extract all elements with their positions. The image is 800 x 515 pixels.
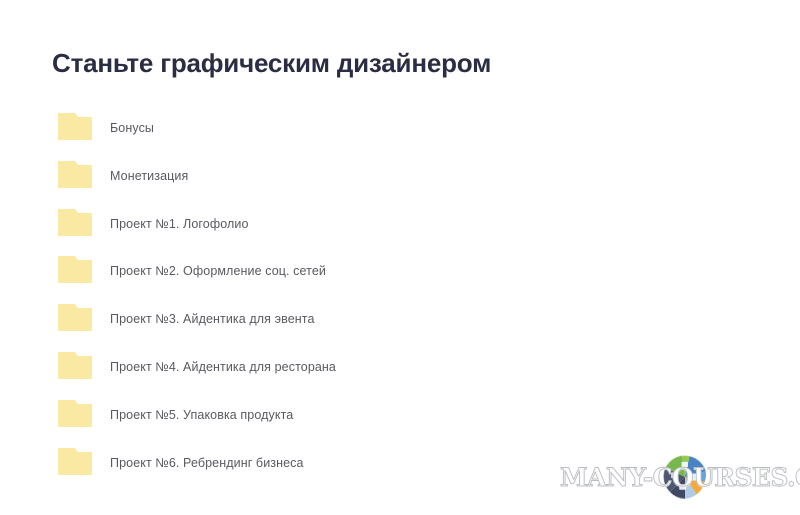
- folder-row[interactable]: Монетизация: [0, 161, 800, 209]
- folder-row[interactable]: Проект №5. Упаковка продукта: [0, 400, 800, 448]
- folder-row-label: Монетизация: [110, 168, 188, 184]
- folder-row[interactable]: Проект №1. Логофолио: [0, 209, 800, 257]
- folder-row-label: Бонусы: [110, 120, 154, 136]
- folder-icon[interactable]: [58, 352, 92, 380]
- folder-icon[interactable]: [58, 256, 92, 284]
- folder-row[interactable]: Проект №6. Ребрендинг бизнеса: [0, 448, 800, 496]
- folder-row-label: Проект №1. Логофолио: [110, 216, 249, 232]
- folder-icon[interactable]: [58, 400, 92, 428]
- folder-row-label: Проект №4. Айдентика для ресторана: [110, 359, 336, 375]
- folder-row[interactable]: Бонусы: [0, 113, 800, 161]
- folder-icon[interactable]: [58, 448, 92, 476]
- folder-row-label: Проект №3. Айдентика для эвента: [110, 311, 315, 327]
- folder-row-label: Проект №6. Ребрендинг бизнеса: [110, 455, 304, 471]
- folder-row-label: Проект №2. Оформление соц. сетей: [110, 263, 326, 279]
- folder-list: БонусыМонетизацияПроект №1. ЛогофолиоПро…: [0, 113, 800, 495]
- folder-row[interactable]: Проект №2. Оформление соц. сетей: [0, 256, 800, 304]
- folder-icon[interactable]: [58, 161, 92, 189]
- folder-icon[interactable]: [58, 209, 92, 237]
- page-title: Станьте графическим дизайнером: [52, 47, 491, 79]
- folder-row[interactable]: Проект №3. Айдентика для эвента: [0, 304, 800, 352]
- folder-icon[interactable]: [58, 113, 92, 141]
- page-root: Станьте графическим дизайнером БонусыМон…: [0, 0, 800, 515]
- folder-row-label: Проект №5. Упаковка продукта: [110, 407, 293, 423]
- folder-row[interactable]: Проект №4. Айдентика для ресторана: [0, 352, 800, 400]
- folder-icon[interactable]: [58, 304, 92, 332]
